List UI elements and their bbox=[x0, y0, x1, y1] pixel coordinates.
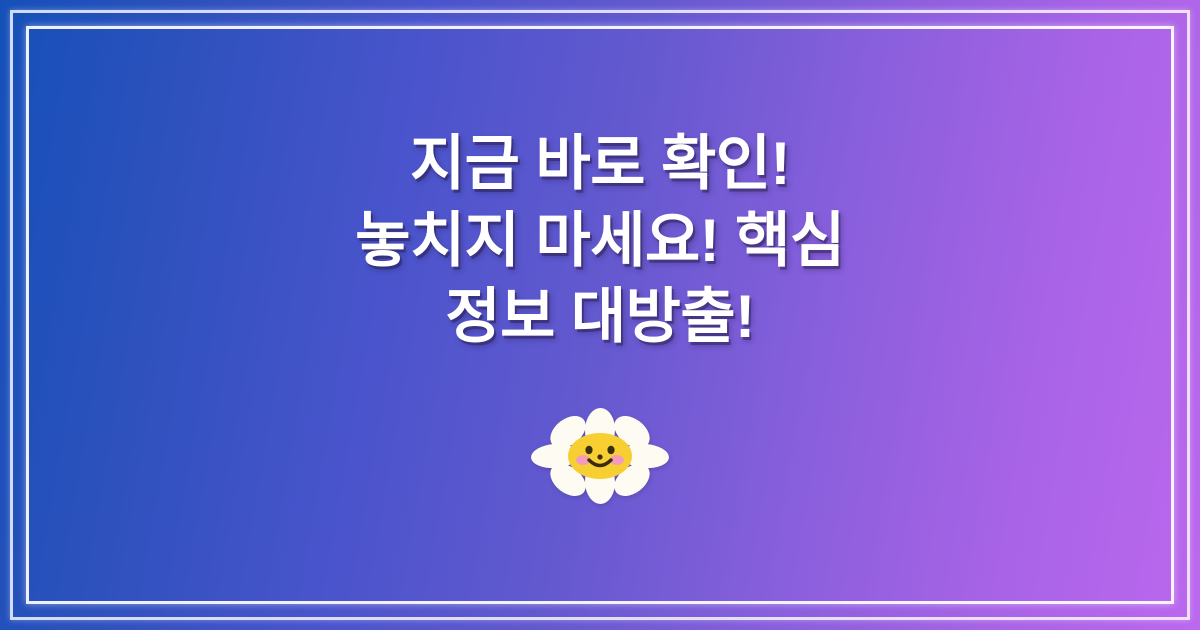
page-title: 지금 바로 확인! 놓치지 마세요! 핵심 정보 대방출! bbox=[355, 126, 844, 356]
thumbnail-card: 지금 바로 확인! 놓치지 마세요! 핵심 정보 대방출! bbox=[0, 0, 1200, 630]
card-content: 지금 바로 확인! 놓치지 마세요! 핵심 정보 대방출! bbox=[0, 0, 1200, 630]
headline-line-1: 지금 바로 확인! bbox=[410, 130, 790, 197]
headline-line-2: 놓치지 마세요! 핵심 bbox=[355, 207, 844, 274]
headline-line-3: 정보 대방출! bbox=[445, 283, 754, 350]
emoji-row bbox=[525, 408, 675, 504]
blossom-icon bbox=[525, 408, 675, 504]
